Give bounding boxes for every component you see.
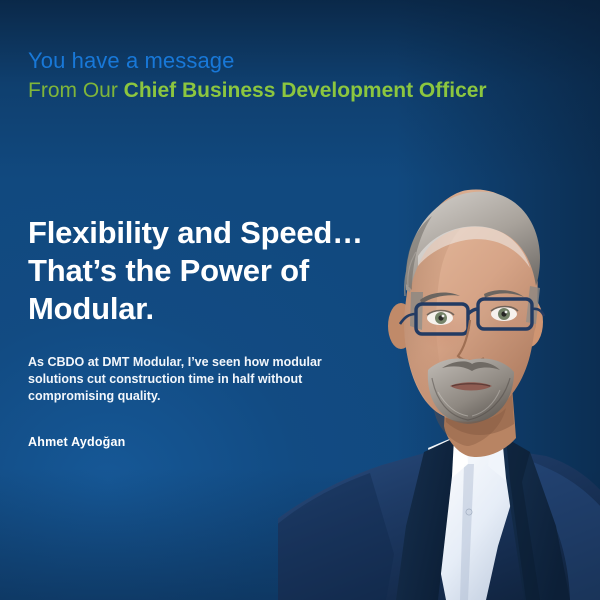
header-line-message: You have a message <box>28 48 487 74</box>
signature-name: Ahmet Aydoğan <box>28 435 358 449</box>
header-role-title: Chief Business Development Officer <box>124 79 487 102</box>
header: You have a message From Our Chief Busine… <box>28 48 487 105</box>
header-line-role: From Our Chief Business Development Offi… <box>28 77 487 105</box>
message-card: You have a message From Our Chief Busine… <box>0 0 600 600</box>
headline-line-3: Modular. <box>28 290 358 328</box>
body-paragraph: As CBDO at DMT Modular, I’ve seen how mo… <box>28 354 328 405</box>
headline-line-2: That’s the Power of <box>28 252 358 290</box>
copy-block: Flexibility and Speed… That’s the Power … <box>28 214 358 449</box>
headline-line-1: Flexibility and Speed… <box>28 214 358 252</box>
headline: Flexibility and Speed… That’s the Power … <box>28 214 358 328</box>
header-role-prefix: From Our <box>28 79 124 102</box>
